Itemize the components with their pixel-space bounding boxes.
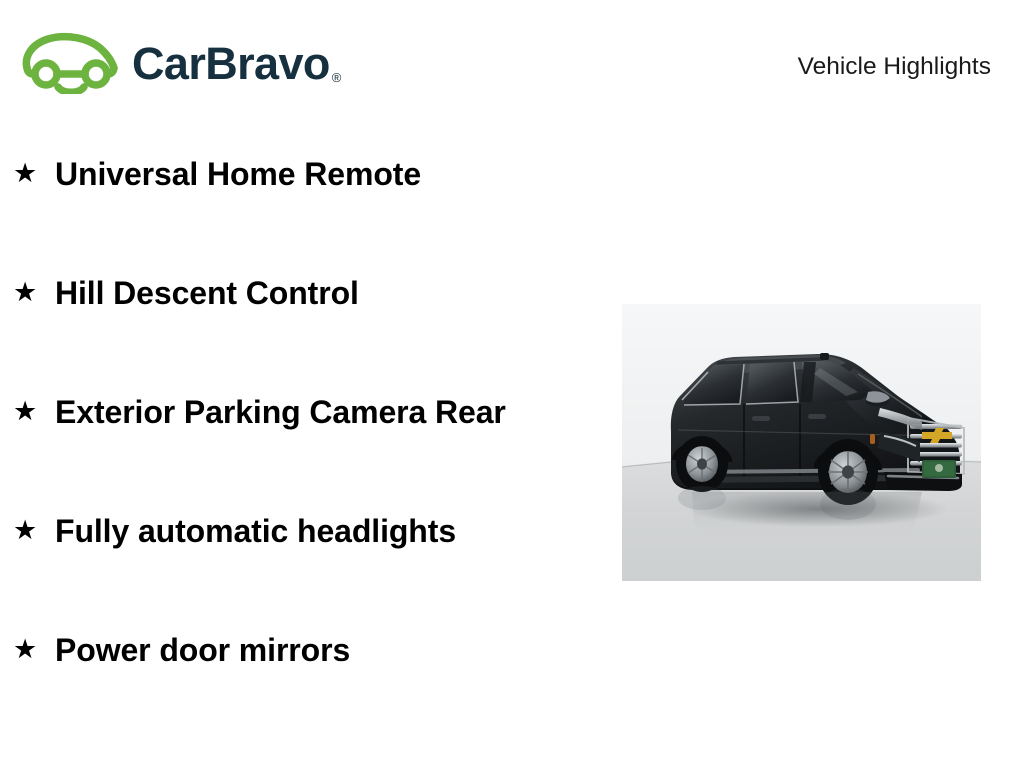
page-header: CarBravo ® Vehicle Highlights xyxy=(0,0,1024,130)
star-bullet-icon: ★ xyxy=(0,271,55,315)
list-item: ★ Exterior Parking Camera Rear xyxy=(0,390,600,434)
star-bullet-icon: ★ xyxy=(0,509,55,553)
vehicle-highlights-list: ★ Universal Home Remote ★ Hill Descent C… xyxy=(0,152,600,672)
list-item: ★ Universal Home Remote xyxy=(0,152,600,196)
list-item: ★ Power door mirrors xyxy=(0,628,600,672)
vehicle-photo-image xyxy=(622,304,981,581)
brand-name: CarBravo xyxy=(132,41,330,86)
highlight-label: Hill Descent Control xyxy=(55,271,535,315)
highlight-label: Fully automatic headlights xyxy=(55,509,535,553)
highlight-label: Exterior Parking Camera Rear xyxy=(55,390,535,434)
brand-wordmark: CarBravo ® xyxy=(132,41,341,86)
star-bullet-icon: ★ xyxy=(0,628,55,672)
page-title: Vehicle Highlights xyxy=(798,52,991,81)
highlight-label: Universal Home Remote xyxy=(55,152,535,196)
brand-logo[interactable]: CarBravo ® xyxy=(18,32,341,94)
star-bullet-icon: ★ xyxy=(0,152,55,196)
trademark-symbol: ® xyxy=(332,71,342,84)
star-bullet-icon: ★ xyxy=(0,390,55,434)
car-face-logo-icon xyxy=(18,32,126,94)
list-item: ★ Hill Descent Control xyxy=(0,271,600,315)
highlight-label: Power door mirrors xyxy=(55,628,535,672)
list-item: ★ Fully automatic headlights xyxy=(0,509,600,553)
vehicle-photo xyxy=(622,304,981,581)
